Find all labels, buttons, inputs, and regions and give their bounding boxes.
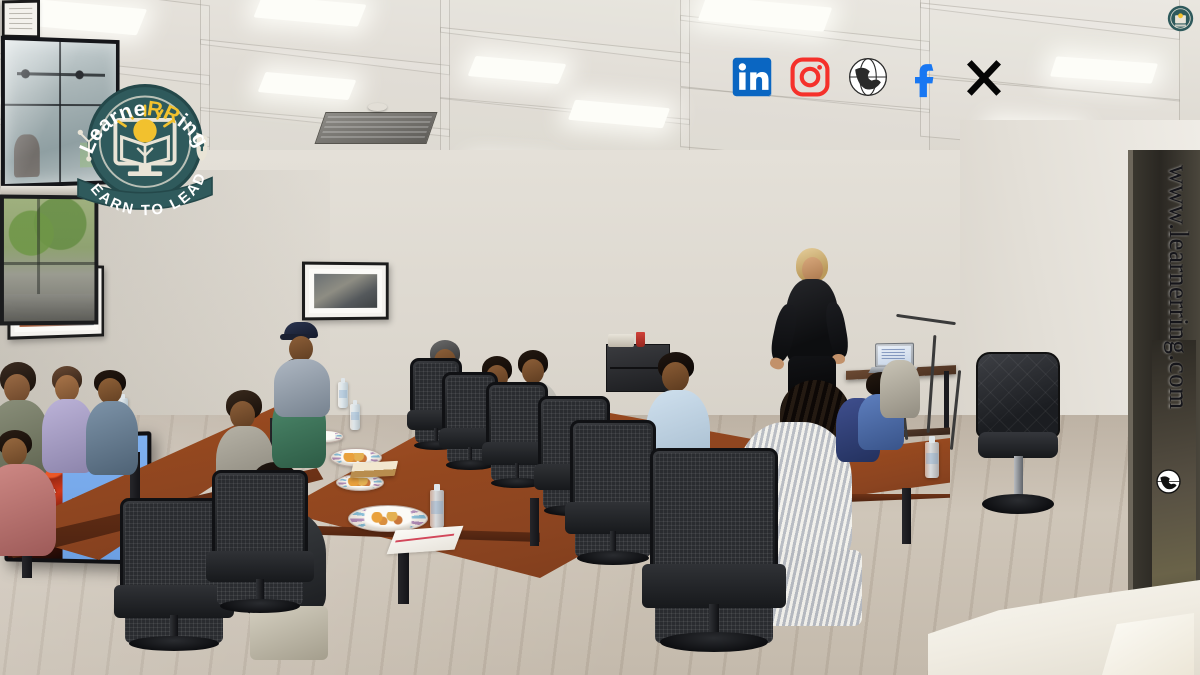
social-icons-bar: ®	[730, 55, 1006, 99]
x-twitter-icon[interactable]	[962, 55, 1006, 99]
svg-text:®: ®	[767, 90, 772, 98]
student-torso	[880, 360, 920, 418]
student-head	[522, 359, 544, 384]
smoke-detector	[368, 103, 387, 111]
classroom-photo: PURPOSE OF A SPEECH CONCLUSION Review Ma…	[0, 0, 1200, 675]
framed-certificate	[2, 0, 40, 38]
student-head	[662, 362, 689, 392]
red-cup	[636, 332, 645, 347]
presenter	[770, 248, 850, 393]
book	[350, 461, 398, 478]
student-head	[4, 374, 30, 403]
student-shorts	[250, 606, 328, 660]
student-torso	[0, 464, 56, 556]
paper-cups	[608, 334, 634, 347]
adult-torso	[274, 359, 330, 417]
desk-leg	[944, 371, 949, 433]
learnerring-logo: LEARN TO LEAD LearneRRing	[66, 70, 224, 222]
whiteboard-logo-icon	[1167, 5, 1194, 32]
website-url-watermark: www.learnerring.com	[1163, 165, 1194, 410]
table-leg	[902, 488, 911, 544]
adult-with-cap	[276, 322, 330, 414]
student	[84, 370, 138, 480]
globe-icon	[1155, 468, 1182, 495]
framed-aircraft-photo-center	[302, 262, 389, 321]
linkedin-icon[interactable]: ®	[730, 55, 774, 99]
air-vent	[314, 112, 437, 144]
mesh-task-chair[interactable]	[650, 448, 778, 648]
water-bottle	[350, 404, 360, 430]
water-bottle	[430, 490, 444, 528]
student-head	[230, 401, 255, 429]
water-bottle	[925, 442, 939, 478]
student	[880, 360, 920, 422]
mesh-task-chair[interactable]	[570, 420, 656, 562]
student-head	[2, 438, 27, 466]
facebook-icon[interactable]	[904, 55, 948, 99]
executive-chair[interactable]	[976, 352, 1060, 520]
table-leg	[398, 546, 409, 604]
mesh-task-chair[interactable]	[212, 470, 308, 610]
student-head	[55, 375, 79, 402]
water-bottle	[338, 382, 348, 408]
instagram-icon[interactable]	[788, 55, 832, 99]
student-torso	[86, 401, 138, 475]
globe-icon[interactable]	[846, 55, 890, 99]
